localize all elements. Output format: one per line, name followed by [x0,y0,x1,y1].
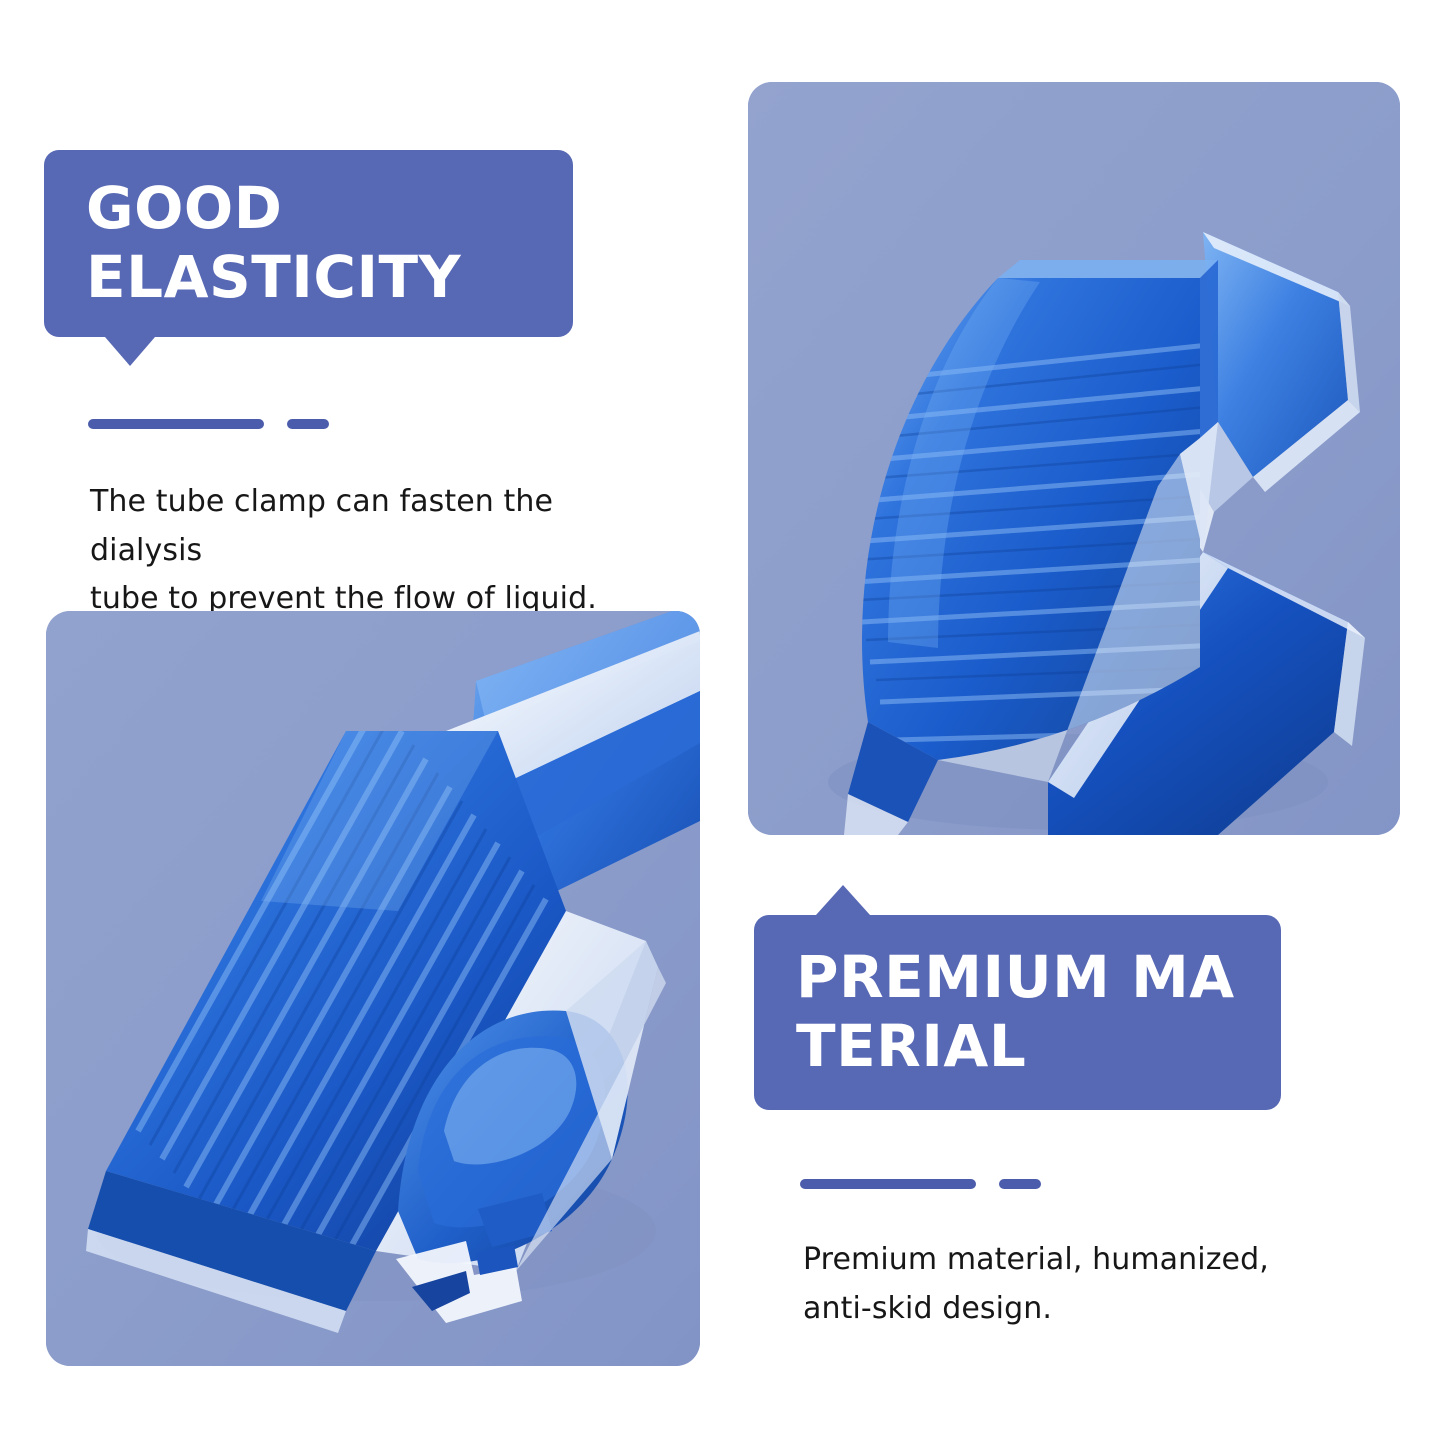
feature-description-premium-material: Premium material, humanized, anti-skid d… [803,1236,1363,1333]
clamp-locking-tip-illustration [46,611,700,1366]
product-photo-clamp-open-jaws [748,82,1400,835]
feature-badge-label: PREMIUM MA TERIAL [796,943,1235,1080]
feature-badge-premium-material: PREMIUM MA TERIAL [754,915,1281,1110]
feature-badge-good-elasticity: GOOD ELASTICITY [44,150,573,337]
product-photo-clamp-locking-tip [46,611,700,1366]
product-feature-infographic: GOOD ELASTICITY The tube clamp can faste… [0,0,1445,1445]
feature-badge-label: GOOD ELASTICITY [86,174,461,311]
divider-dash-long [88,419,264,429]
feature-description-good-elasticity: The tube clamp can fasten the dialysis t… [90,478,650,624]
clamp-open-jaws-illustration [748,82,1400,835]
divider-premium-material [800,1179,1041,1189]
divider-dash-long [800,1179,976,1189]
divider-dash-short [999,1179,1041,1189]
callout-tail-down-icon [105,337,155,366]
callout-tail-up-icon [816,885,870,915]
divider-good-elasticity [88,419,329,429]
divider-dash-short [287,419,329,429]
